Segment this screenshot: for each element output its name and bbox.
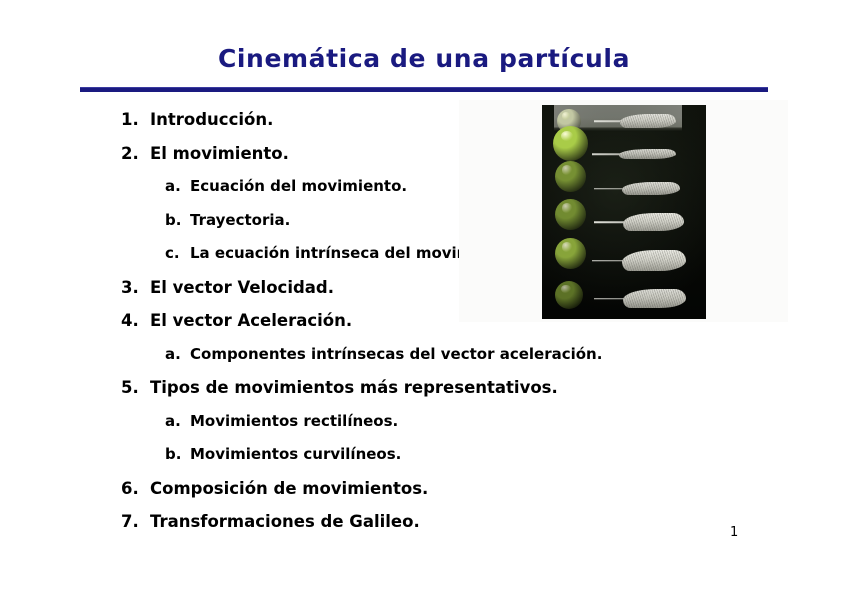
outline-item-label: Composición de movimientos. <box>150 479 428 498</box>
outline-item-marker: 3. <box>121 278 139 297</box>
apple-strobe-image <box>555 281 583 309</box>
outline-item-label: Tipos de movimientos más representativos… <box>150 378 558 397</box>
outline-item: b.Movimientos curvilíneos. <box>112 445 542 479</box>
outline-item-marker: 2. <box>121 144 139 163</box>
apple-and-feather-free-fall-strobe-photo <box>542 105 706 319</box>
feather-vane <box>622 182 680 195</box>
outline-item-label: Ecuación del movimiento. <box>190 177 407 195</box>
outline-item-marker: a. <box>165 345 181 363</box>
outline-item-marker: 6. <box>121 479 139 498</box>
apple-highlight <box>562 165 573 174</box>
outline-item-marker: b. <box>165 211 181 229</box>
feather-vane <box>619 149 676 159</box>
outline-item-label: Movimientos curvilíneos. <box>190 445 401 463</box>
slide-canvas: Cinemática de una partícula 1.Introducci… <box>0 0 848 599</box>
outline-item-label: Trayectoria. <box>190 211 290 229</box>
outline-item-label: Transformaciones de Galileo. <box>150 512 420 531</box>
apple-highlight <box>561 131 573 142</box>
apple-highlight <box>562 242 573 251</box>
photo-frame <box>459 100 788 322</box>
apple-strobe-image <box>555 199 586 230</box>
outline-item-label: Introducción. <box>150 110 273 129</box>
feather-strobe-image <box>594 114 676 128</box>
outline-item-label: Movimientos rectilíneos. <box>190 412 398 430</box>
outline-item-marker: a. <box>165 412 181 430</box>
outline-item-marker: a. <box>165 177 181 195</box>
apple-strobe-image <box>555 161 586 192</box>
feather-strobe-image <box>594 289 686 308</box>
outline-item-label: El vector Aceleración. <box>150 311 352 330</box>
feather-vane <box>623 213 684 231</box>
feather-strobe-image <box>594 213 684 231</box>
feather-vane <box>623 289 686 308</box>
apple-highlight <box>561 285 571 293</box>
page-number: 1 <box>730 525 738 540</box>
apple-strobe-image <box>553 126 588 161</box>
outline-item-label: El movimiento. <box>150 144 289 163</box>
feather-vane <box>620 114 676 128</box>
title-divider <box>80 87 768 92</box>
outline-item-marker: 7. <box>121 512 139 531</box>
outline-item-marker: c. <box>165 244 180 262</box>
feather-strobe-image <box>594 182 680 195</box>
feather-strobe-image <box>592 149 676 159</box>
outline-item-marker: 4. <box>121 311 139 330</box>
outline-item: a.Movimientos rectilíneos. <box>112 412 542 446</box>
apple-strobe-image <box>555 238 586 269</box>
apple-highlight <box>562 112 570 119</box>
page-title: Cinemática de una partícula <box>0 44 848 73</box>
outline-item-label: El vector Velocidad. <box>150 278 334 297</box>
outline-item-marker: 1. <box>121 110 139 129</box>
feather-strobe-image <box>592 250 686 271</box>
feather-vane <box>622 250 686 271</box>
apple-highlight <box>562 203 573 212</box>
outline-item: a.Componentes intrínsecas del vector ace… <box>112 345 542 379</box>
outline-item-marker: b. <box>165 445 181 463</box>
outline-item: 5.Tipos de movimientos más representativ… <box>112 378 542 412</box>
outline-item-label: Componentes intrínsecas del vector acele… <box>190 345 602 363</box>
outline-item-marker: 5. <box>121 378 139 397</box>
outline-item: 6.Composición de movimientos. <box>112 479 542 513</box>
outline-item: 7.Transformaciones de Galileo. <box>112 512 542 546</box>
